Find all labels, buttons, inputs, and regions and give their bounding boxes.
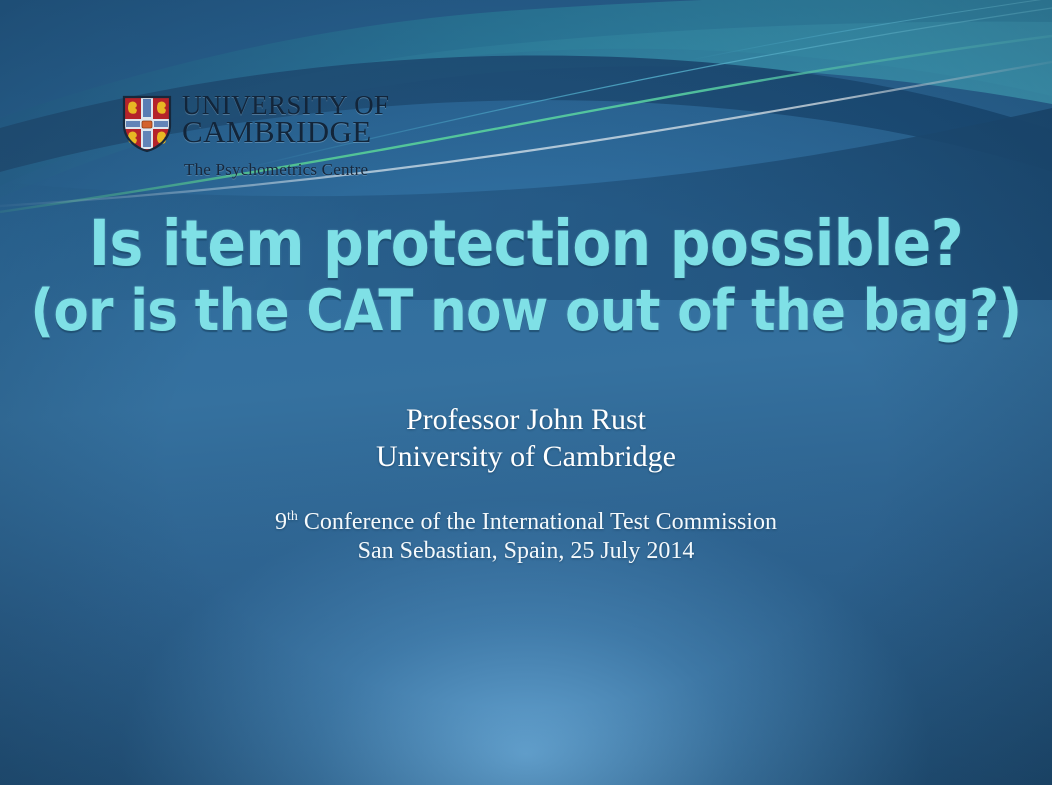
logo-row: UNIVERSITY OF CAMBRIDGE xyxy=(122,93,412,153)
title-line-2: (or is the CAT now out of the bag?) xyxy=(0,282,1052,340)
conference-ordinal-suffix: th xyxy=(287,509,298,524)
presentation-slide: UNIVERSITY OF CAMBRIDGE The Psychometric… xyxy=(0,0,1052,785)
conference-ordinal-number: 9 xyxy=(275,509,287,535)
title-line-1: Is item protection possible? xyxy=(0,212,1052,276)
conference-block: 9th Conference of the International Test… xyxy=(0,508,1052,567)
conference-name: Conference of the International Test Com… xyxy=(298,509,777,535)
conference-location-date: San Sebastian, Spain, 25 July 2014 xyxy=(0,537,1052,566)
university-crest-icon xyxy=(122,95,172,153)
author-name: Professor John Rust xyxy=(0,402,1052,439)
author-affiliation: University of Cambridge xyxy=(0,439,1052,476)
slide-title: Is item protection possible? (or is the … xyxy=(0,212,1052,340)
conference-name-line: 9th Conference of the International Test… xyxy=(0,508,1052,537)
author-block: Professor John Rust University of Cambri… xyxy=(0,402,1052,475)
university-logo: UNIVERSITY OF CAMBRIDGE The Psychometric… xyxy=(122,93,412,180)
university-wordmark: UNIVERSITY OF CAMBRIDGE xyxy=(182,93,389,147)
psychometrics-centre-label: The Psychometrics Centre xyxy=(184,160,412,180)
wordmark-line-2: CAMBRIDGE xyxy=(182,118,389,147)
